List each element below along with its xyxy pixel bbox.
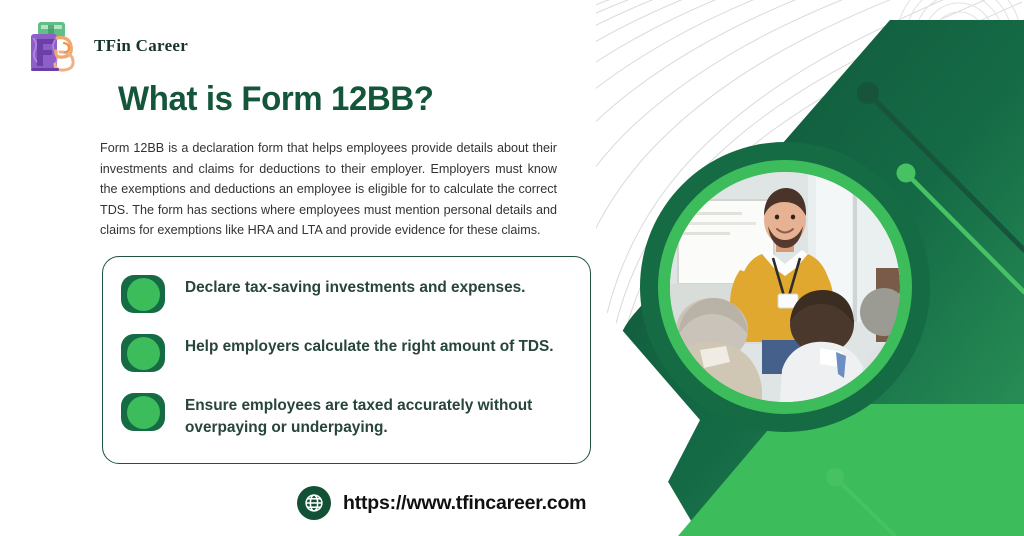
diagonal-connector-dots-icon [857, 82, 1024, 292]
intro-paragraph: Form 12BB is a declaration form that hel… [100, 138, 557, 241]
bullet-dot-icon [127, 396, 160, 429]
list-item: Help employers calculate the right amoun… [121, 332, 572, 372]
bullet-marker-icon [121, 334, 165, 372]
attendee-right [780, 290, 870, 402]
bullet-dot-icon [127, 278, 160, 311]
bright-green-band [678, 342, 1024, 536]
photo-illustration [670, 172, 900, 402]
list-item: Ensure employees are taxed accurately wi… [121, 391, 572, 439]
list-item-label: Declare tax-saving investments and expen… [185, 273, 525, 299]
photo-inner-ring [658, 160, 912, 414]
photo-outer-ring [640, 142, 930, 432]
brand-logo[interactable]: TFin Career [24, 18, 188, 74]
website-url-label: https://www.tfincareer.com [343, 492, 586, 515]
list-item-label: Help employers calculate the right amoun… [185, 332, 554, 358]
website-link[interactable]: https://www.tfincareer.com [297, 486, 586, 520]
green-body-shape [613, 20, 1024, 536]
bullet-dot-icon [127, 337, 160, 370]
bullet-marker-icon [121, 393, 165, 431]
infographic-canvas: TFin Career What is Form 12BB? Form 12BB… [0, 0, 1024, 536]
list-item-label: Ensure employees are taxed accurately wi… [185, 391, 572, 439]
diagonal-connector-dot-lower-icon [826, 468, 960, 536]
list-item: Declare tax-saving investments and expen… [121, 273, 572, 313]
bullet-marker-icon [121, 275, 165, 313]
page-title: What is Form 12BB? [118, 80, 434, 119]
globe-icon [297, 486, 331, 520]
presenter-figure [727, 188, 846, 374]
globe-glyph [303, 492, 325, 514]
concentric-rings-icon [897, 0, 1021, 100]
attendee-far-right [860, 288, 900, 402]
attendee-left [670, 298, 762, 402]
presentation-photo [670, 172, 900, 402]
key-points-card: Declare tax-saving investments and expen… [102, 256, 591, 464]
tfin-ornate-monogram-icon [24, 18, 86, 74]
white-wedge [596, 300, 700, 536]
brand-name: TFin Career [94, 36, 188, 56]
